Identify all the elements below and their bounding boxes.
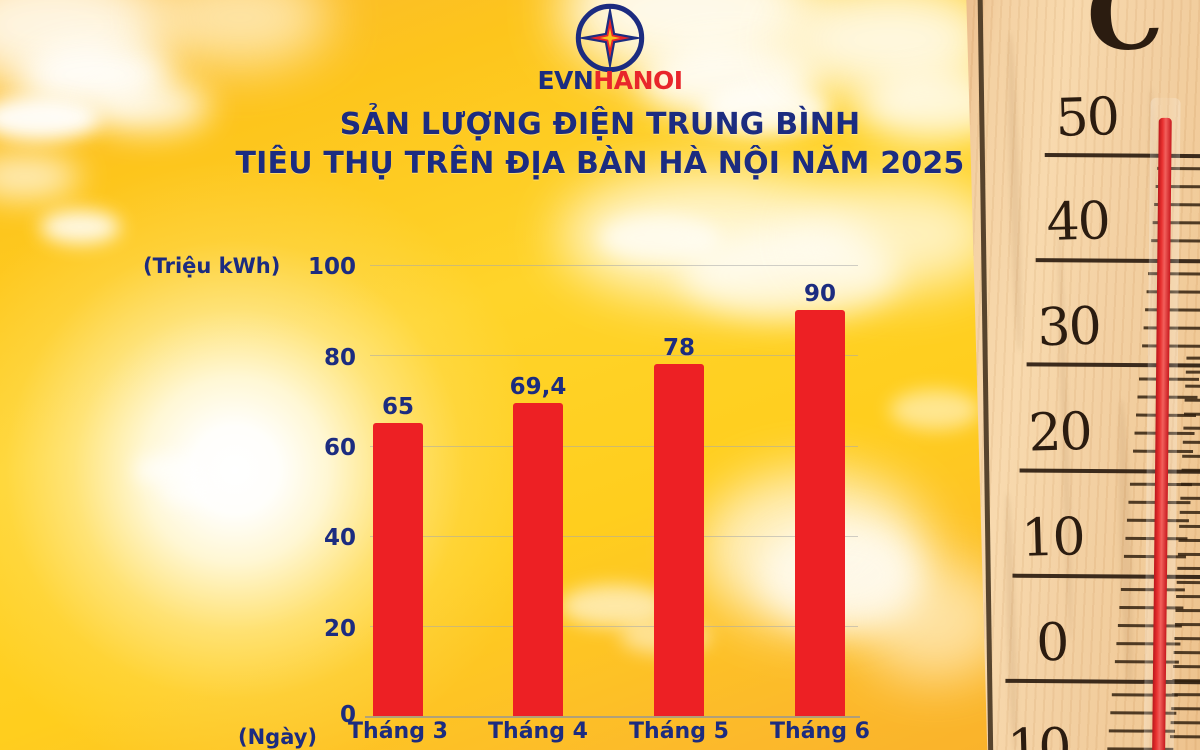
y-tick-label-40: 40 <box>300 527 356 550</box>
y-axis-caption: (Triệu kWh) <box>143 254 280 278</box>
thermometer-unit-label: C <box>1085 0 1165 73</box>
thermometer-scale-10: 10 <box>1021 507 1085 569</box>
bar-value-thang-4: 69,4 <box>478 376 598 399</box>
bar-value-thang-3: 65 <box>338 396 458 419</box>
bar-thang-6[interactable] <box>795 310 845 716</box>
gridline-100 <box>370 265 858 266</box>
gridline-60 <box>370 446 858 447</box>
gridline-20 <box>370 626 858 627</box>
y-tick-label-60: 60 <box>300 437 356 460</box>
y-tick-label-100: 100 <box>300 256 356 279</box>
bar-thang-4[interactable] <box>513 403 563 716</box>
x-tick-label-thang-5: Tháng 5 <box>609 721 749 743</box>
gridline-80 <box>370 355 858 356</box>
bar-value-thang-5: 78 <box>619 337 739 360</box>
x-axis-caption: (Ngày) <box>238 725 317 749</box>
bar-value-thang-6: 90 <box>760 283 880 306</box>
thermometer-scale-50: 50 <box>1055 87 1119 149</box>
thermometer-scale-40: 40 <box>1046 191 1110 253</box>
thermometer-scale-0: 0 <box>1035 613 1068 674</box>
thermometer-scale-minus-10: 10 <box>1006 718 1070 750</box>
bar-chart: 100 80 60 40 20 0 (Triệu kWh) (Ngày) 65 … <box>0 0 960 750</box>
bar-thang-5[interactable] <box>654 364 704 716</box>
x-tick-label-thang-6: Tháng 6 <box>750 721 890 743</box>
bar-thang-3[interactable] <box>373 423 423 716</box>
y-tick-label-20: 20 <box>300 618 356 641</box>
gridline-40 <box>370 536 858 537</box>
thermometer: C 50 40 30 20 10 0 10 <box>944 0 1200 750</box>
x-tick-label-thang-3: Tháng 3 <box>328 721 468 743</box>
y-tick-label-80: 80 <box>300 347 356 370</box>
thermometer-scale-30: 30 <box>1037 297 1101 359</box>
infographic-canvas: EVNHANOI SẢN LƯỢNG ĐIỆN TRUNG BÌNH TIÊU … <box>0 0 1200 750</box>
thermometer-scale-20: 20 <box>1028 402 1092 464</box>
x-axis-line <box>365 716 860 718</box>
x-tick-label-thang-4: Tháng 4 <box>468 721 608 743</box>
